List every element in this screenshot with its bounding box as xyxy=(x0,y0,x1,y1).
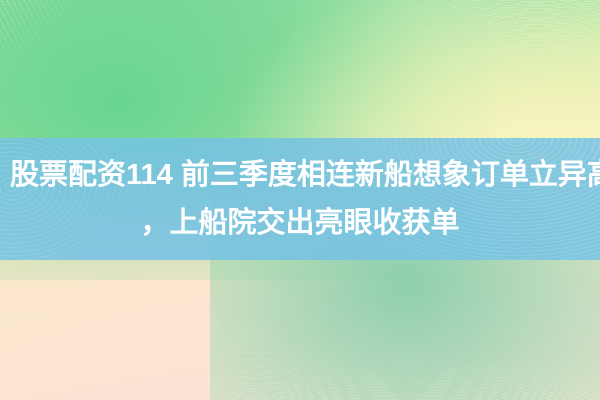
headline-line-2: ，上船院交出亮眼收获单 xyxy=(10,199,590,247)
headline-band: 股票配资114 前三季度相连新船想象订单立异高 ，上船院交出亮眼收获单 xyxy=(0,138,600,260)
headline-line-1: 股票配资114 前三季度相连新船想象订单立异高 xyxy=(10,151,590,199)
promo-banner-image: 股票配资114 前三季度相连新船想象订单立异高 ，上船院交出亮眼收获单 xyxy=(0,0,600,400)
